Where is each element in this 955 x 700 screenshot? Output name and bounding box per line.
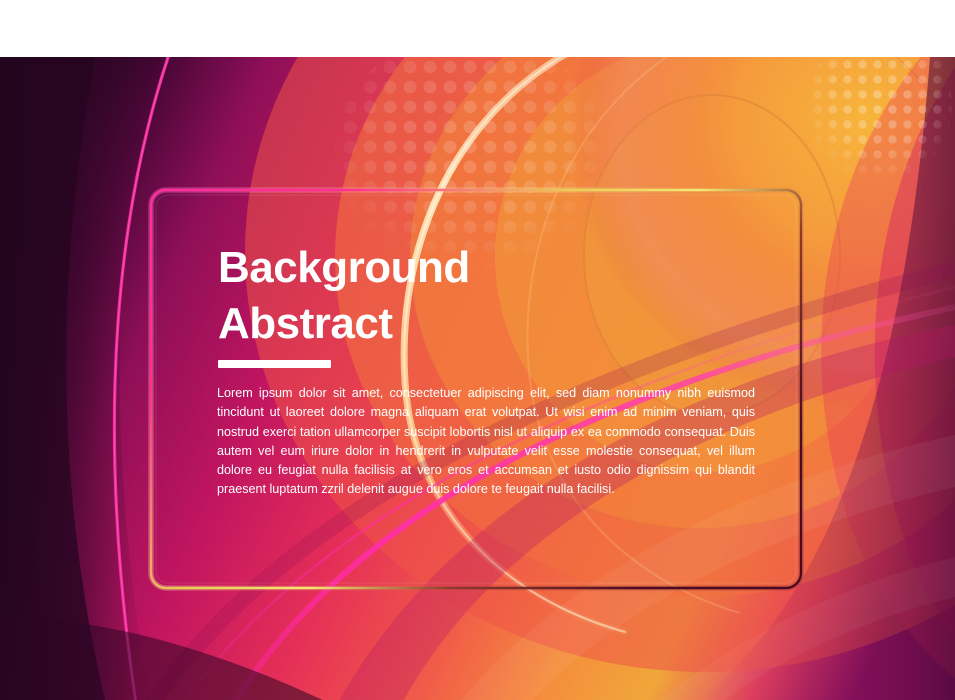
poster-canvas: Background Abstract Lorem ipsum dolor si…	[0, 0, 955, 700]
abstract-artwork	[0, 57, 955, 700]
